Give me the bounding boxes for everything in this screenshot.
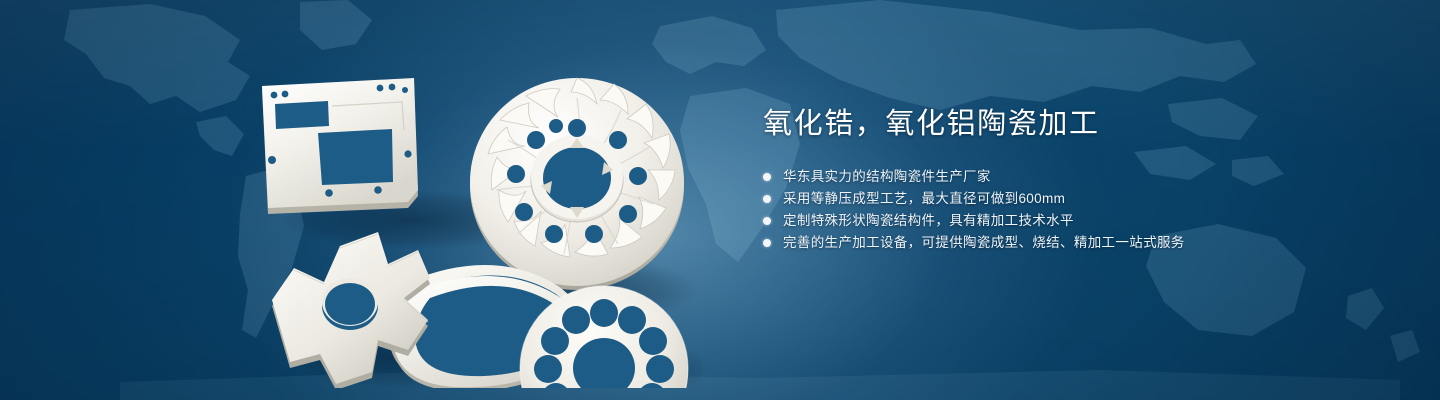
bullet-dot-icon: [763, 217, 771, 225]
list-item-label: 完善的生产加工设备，可提供陶瓷成型、烧结、精加工一站式服务: [783, 232, 1185, 254]
ceramic-impeller-disc: [470, 78, 684, 290]
banner-feature-list: 华东具实力的结构陶瓷件生产厂家 采用等静压成型工艺，最大直径可做到600mm 定…: [763, 166, 1383, 254]
list-item: 采用等静压成型工艺，最大直径可做到600mm: [763, 188, 1383, 210]
bullet-dot-icon: [763, 173, 771, 181]
hero-banner: 氧化锆，氧化铝陶瓷加工 华东具实力的结构陶瓷件生产厂家 采用等静压成型工艺，最大…: [0, 0, 1440, 400]
bullet-dot-icon: [763, 195, 771, 203]
ceramic-products-image: [232, 38, 702, 388]
bullet-dot-icon: [763, 239, 771, 247]
list-item-label: 采用等静压成型工艺，最大直径可做到600mm: [783, 188, 1065, 210]
list-item: 华东具实力的结构陶瓷件生产厂家: [763, 166, 1383, 188]
list-item: 定制特殊形状陶瓷结构件，具有精加工技术水平: [763, 210, 1383, 232]
list-item: 完善的生产加工设备，可提供陶瓷成型、烧结、精加工一站式服务: [763, 232, 1383, 254]
ceramic-machined-plate: [262, 78, 418, 214]
list-item-label: 华东具实力的结构陶瓷件生产厂家: [783, 166, 991, 188]
banner-copy: 氧化锆，氧化铝陶瓷加工 华东具实力的结构陶瓷件生产厂家 采用等静压成型工艺，最大…: [763, 104, 1383, 254]
banner-headline: 氧化锆，氧化铝陶瓷加工: [763, 104, 1383, 144]
list-item-label: 定制特殊形状陶瓷结构件，具有精加工技术水平: [783, 210, 1074, 232]
